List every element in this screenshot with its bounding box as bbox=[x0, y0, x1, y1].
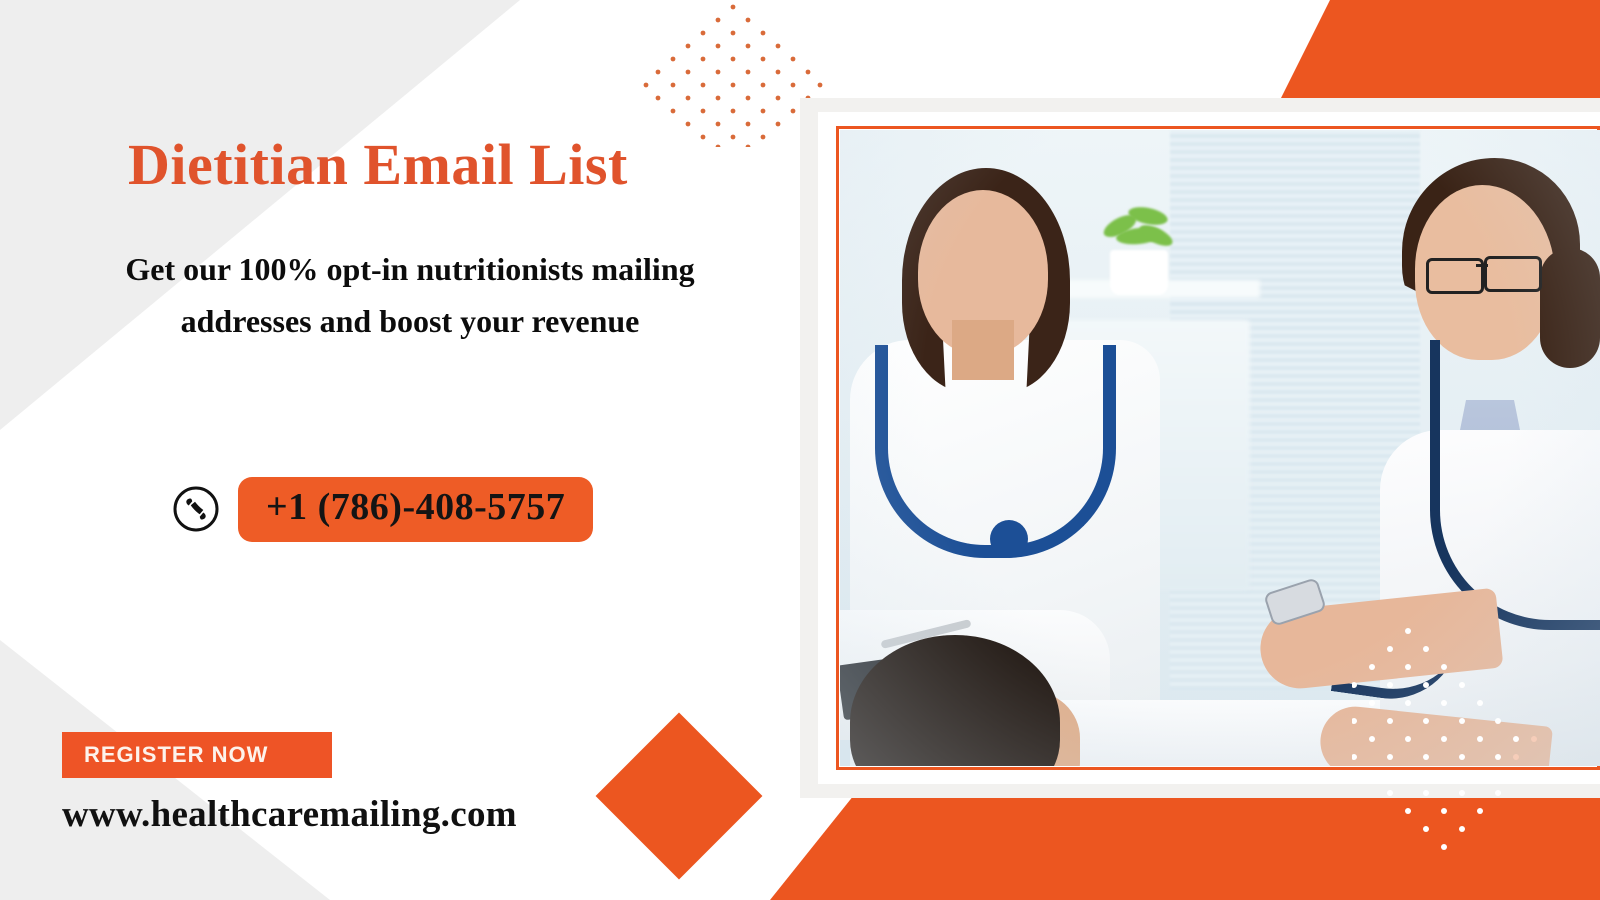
promo-banner: Dietitian Email List Get our 100% opt-in… bbox=[0, 0, 1600, 900]
orange-diamond-shape bbox=[596, 713, 763, 880]
phone-number-badge[interactable]: +1 (786)-408-5757 bbox=[238, 477, 593, 542]
website-url[interactable]: www.healthcaremailing.com bbox=[62, 793, 517, 836]
page-title: Dietitian Email List bbox=[128, 135, 748, 196]
register-now-button[interactable]: REGISTER NOW bbox=[62, 732, 332, 778]
phone-handset-circle-icon bbox=[172, 485, 220, 533]
page-subtitle: Get our 100% opt-in nutritionists mailin… bbox=[105, 244, 715, 348]
white-dot-pattern-icon bbox=[1352, 625, 1552, 865]
top-left-gray-triangle bbox=[0, 0, 520, 430]
register-now-label: REGISTER NOW bbox=[84, 742, 268, 768]
phone-contact-row[interactable]: +1 (786)-408-5757 bbox=[172, 477, 593, 542]
